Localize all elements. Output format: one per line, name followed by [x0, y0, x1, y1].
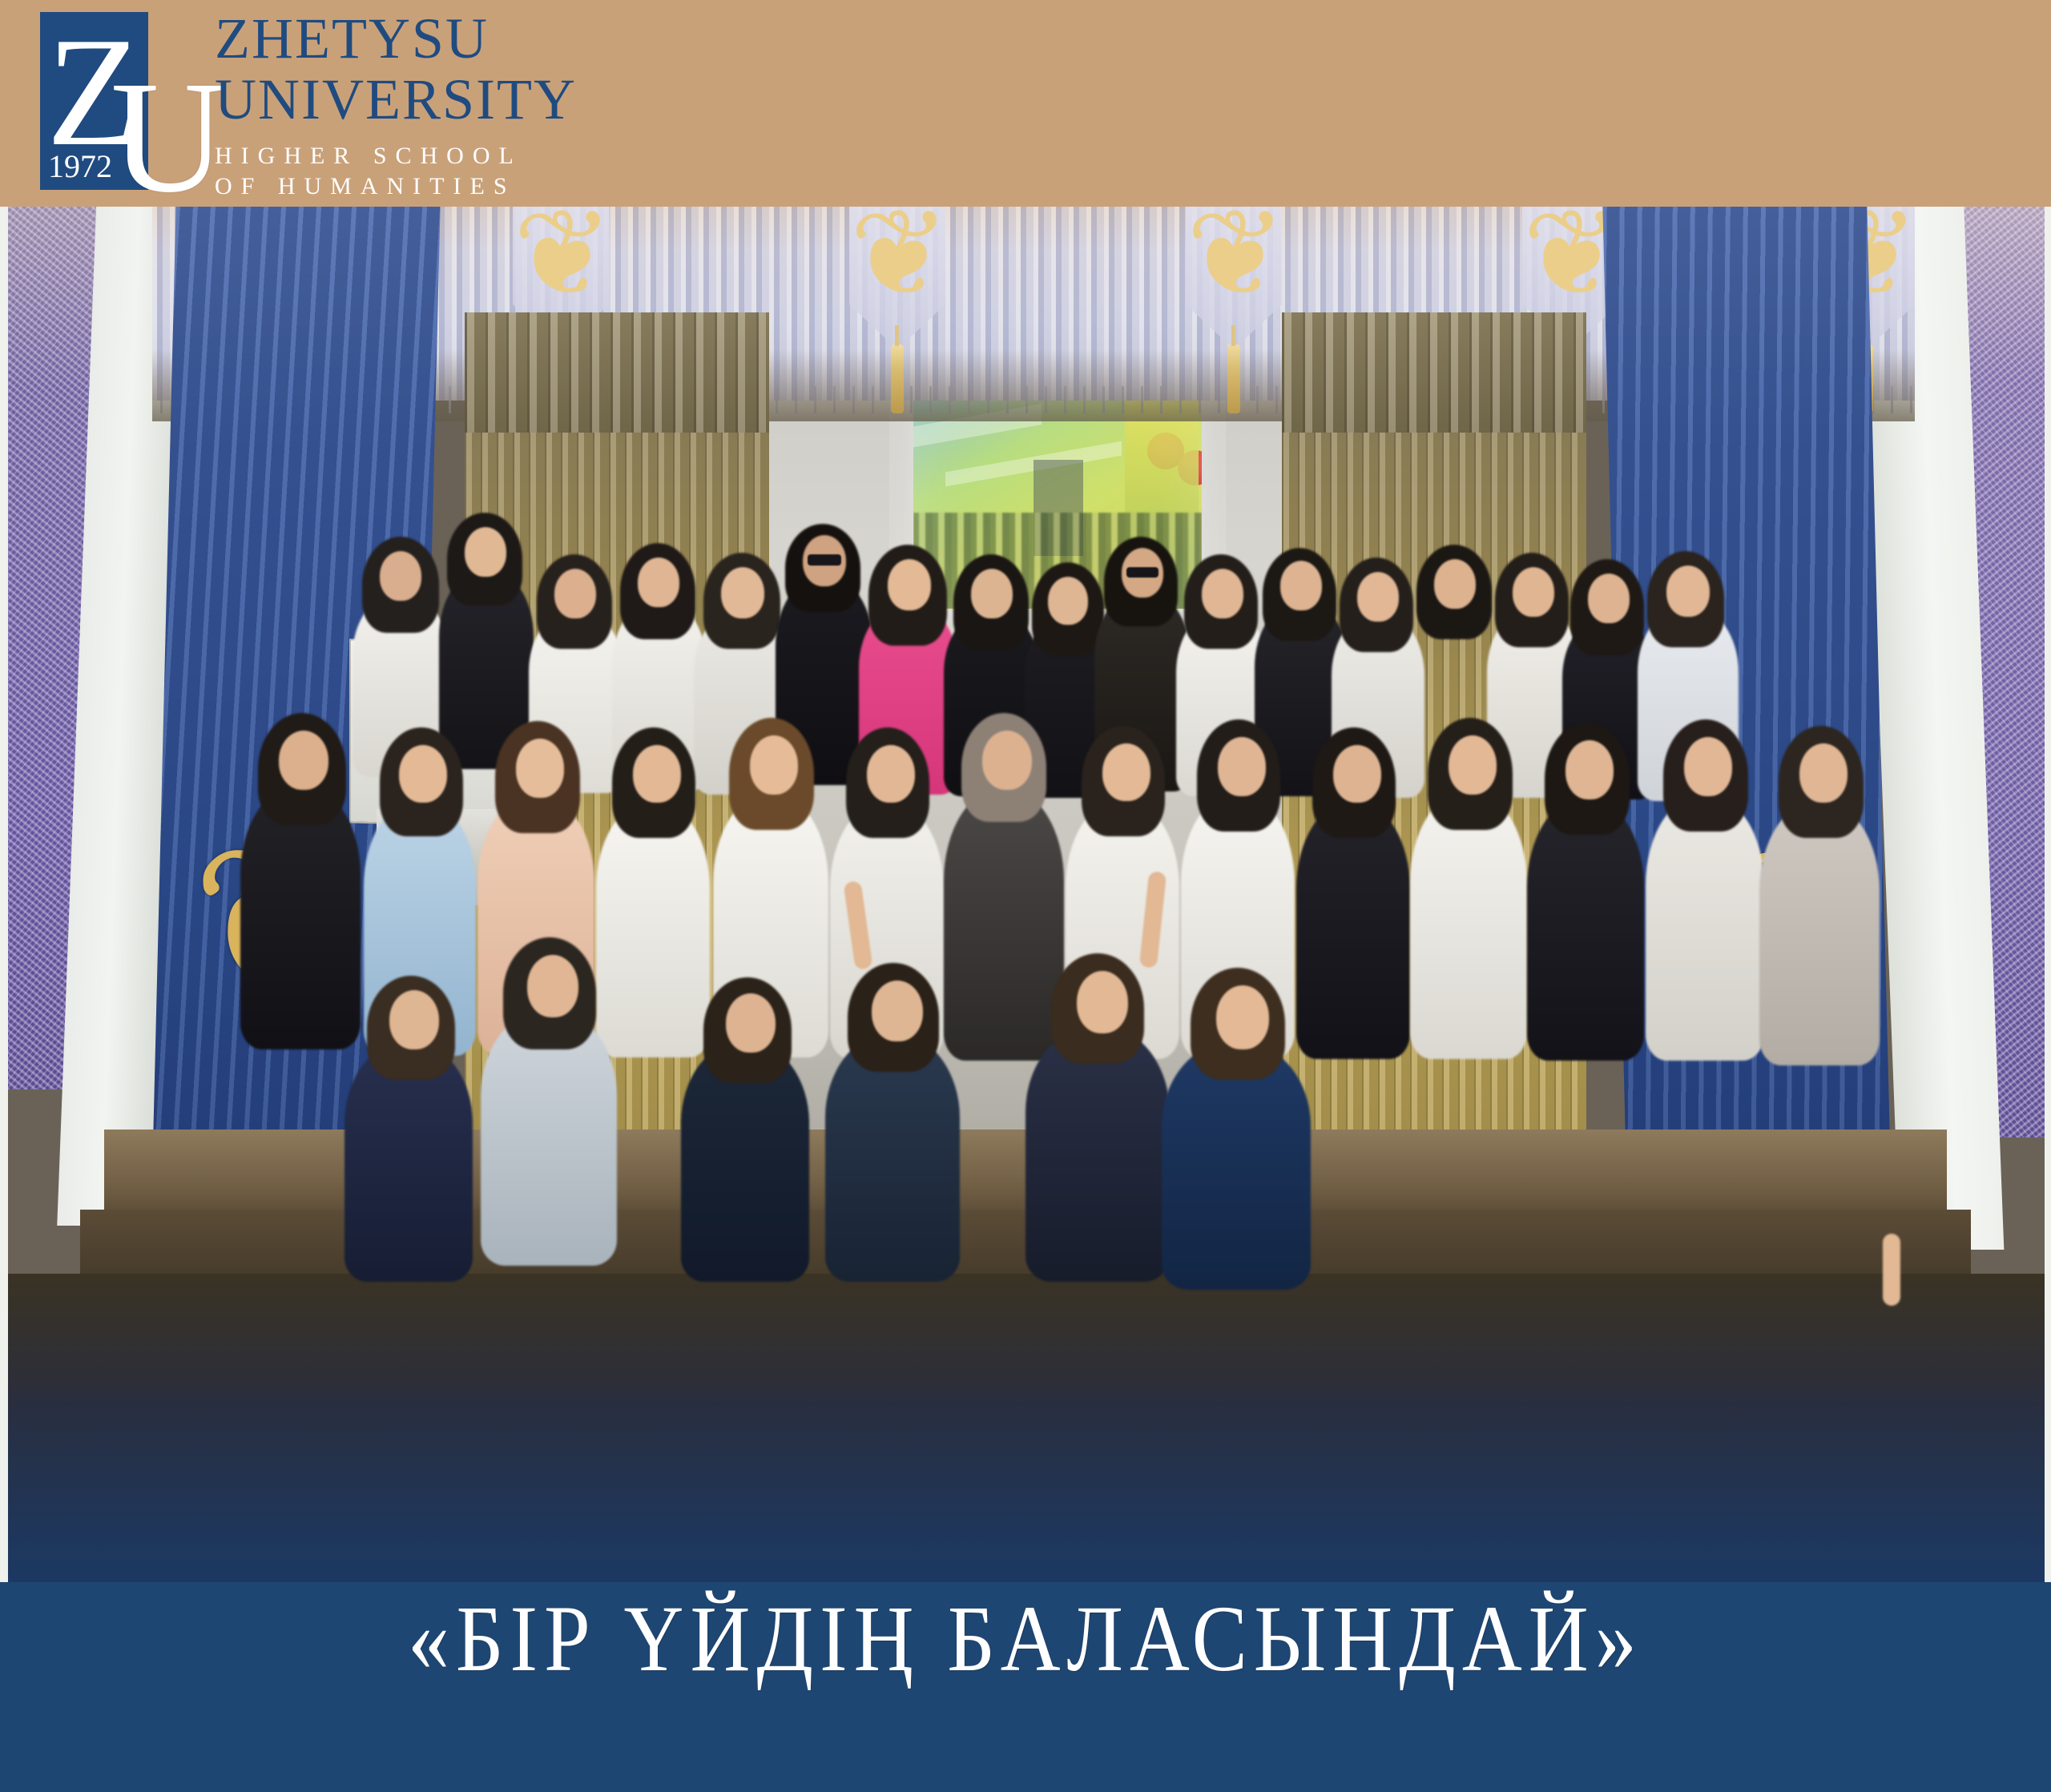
logo-founding-year: 1972: [48, 151, 112, 183]
caption-band: «БІР ҮЙДІҢ БАЛАСЫНДАЙ»: [0, 1582, 2051, 1792]
poster-root: ❦ ❦ ❦ ❦ ❦ ❦ ❦ ❦: [0, 0, 2051, 1792]
brand-text-block: ZHETYSU UNIVERSITY HIGHER SCHOOL OF HUMA…: [215, 3, 1016, 202]
brand-subtitle-line-1: HIGHER SCHOOL: [215, 141, 1016, 171]
event-photograph: ❦ ❦ ❦ ❦ ❦ ❦ ❦ ❦: [0, 192, 2051, 1602]
brand-name-line-1: ZHETYSU: [215, 8, 1016, 69]
photo-edge-right: [2045, 192, 2051, 1602]
photo-bottom-gradient: [0, 1378, 2051, 1602]
event-title: «БІР ҮЙДІҢ БАЛАСЫНДАЙ»: [408, 1587, 1642, 1691]
logo-letter-u: U: [111, 58, 226, 218]
header-band: Z 1972 U ZHETYSU UNIVERSITY HIGHER SCHOO…: [0, 0, 2051, 207]
brand-name-line-2: UNIVERSITY: [215, 69, 1016, 130]
photo-edge-left: [0, 192, 8, 1602]
brand-subtitle-line-2: OF HUMANITIES: [215, 171, 1016, 202]
